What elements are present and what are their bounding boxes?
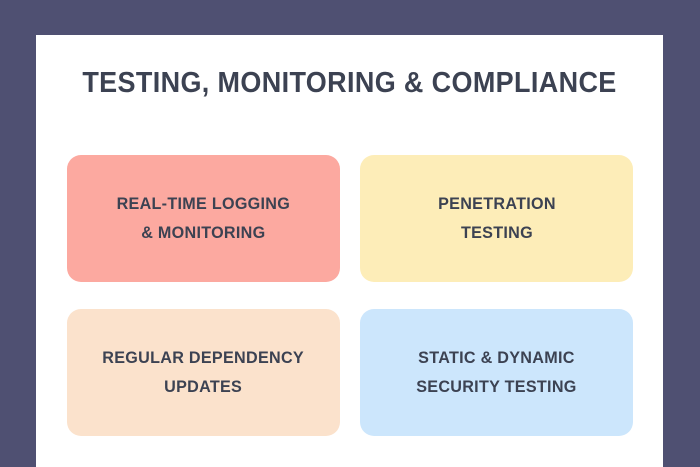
- card-label: STATIC & DYNAMIC SECURITY TESTING: [416, 344, 576, 400]
- card-label: REGULAR DEPENDENCY UPDATES: [103, 344, 305, 400]
- slide-frame: TESTING, MONITORING & COMPLIANCE REAL-TI…: [0, 0, 700, 467]
- slide-panel: TESTING, MONITORING & COMPLIANCE REAL-TI…: [36, 35, 663, 467]
- page-title: TESTING, MONITORING & COMPLIANCE: [58, 69, 641, 98]
- card-regular-dependency-updates[interactable]: REGULAR DEPENDENCY UPDATES: [67, 309, 340, 436]
- card-label: REAL-TIME LOGGING & MONITORING: [117, 190, 291, 246]
- card-grid: REAL-TIME LOGGING & MONITORING PENETRATI…: [67, 155, 633, 436]
- card-label: PENETRATION TESTING: [438, 190, 556, 246]
- card-real-time-logging-monitoring[interactable]: REAL-TIME LOGGING & MONITORING: [67, 155, 340, 282]
- card-penetration-testing[interactable]: PENETRATION TESTING: [360, 155, 633, 282]
- card-static-dynamic-security-testing[interactable]: STATIC & DYNAMIC SECURITY TESTING: [360, 309, 633, 436]
